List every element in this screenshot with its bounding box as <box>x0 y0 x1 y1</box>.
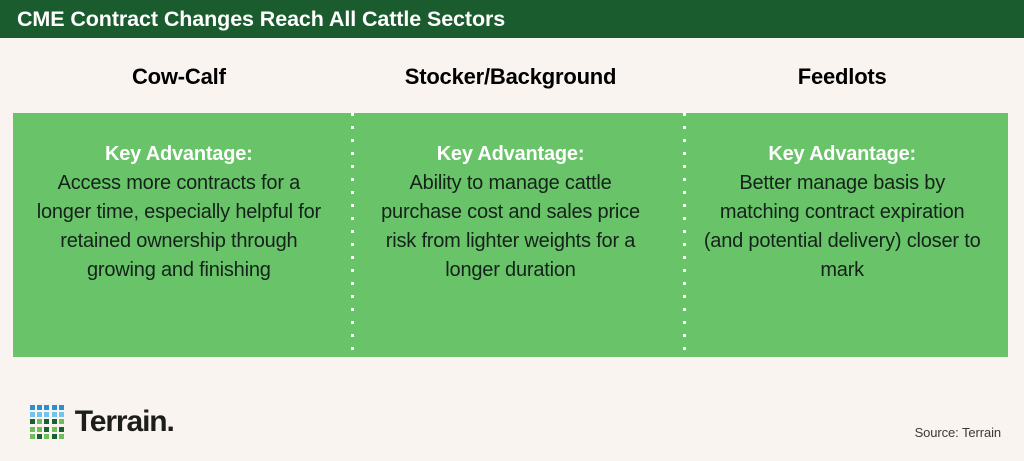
logo-dot-2-2 <box>44 419 49 424</box>
key-advantage-body-cow-calf: Access more contracts for a longer time,… <box>35 169 323 285</box>
column-divider-1 <box>351 113 354 357</box>
logo-dot-4-1 <box>37 434 42 439</box>
source-attribution: Source: Terrain <box>915 425 1001 440</box>
footer: Terrain. Source: Terrain <box>0 390 1024 461</box>
column-headers: Cow-Calf Stocker/Background Feedlots <box>13 64 1008 104</box>
logo-dot-2-3 <box>52 419 57 424</box>
title-bar: CME Contract Changes Reach All Cattle Se… <box>0 0 1024 38</box>
logo-dot-3-2 <box>44 427 49 432</box>
panel-column-cow-calf: Key Advantage: Access more contracts for… <box>13 113 345 357</box>
column-header-stocker-background: Stocker/Background <box>345 64 677 104</box>
terrain-logo: Terrain. <box>30 405 174 439</box>
key-advantage-panel: Key Advantage: Access more contracts for… <box>13 113 1008 357</box>
logo-dot-4-2 <box>44 434 49 439</box>
logo-dot-1-4 <box>59 412 64 417</box>
logo-dot-0-4 <box>59 405 64 410</box>
logo-dot-2-0 <box>30 419 35 424</box>
logo-dot-0-1 <box>37 405 42 410</box>
column-header-feedlots: Feedlots <box>676 64 1008 104</box>
terrain-logo-wordmark: Terrain. <box>75 407 174 437</box>
logo-dot-0-0 <box>30 405 35 410</box>
logo-dot-4-0 <box>30 434 35 439</box>
logo-dot-4-4 <box>59 434 64 439</box>
page-title: CME Contract Changes Reach All Cattle Se… <box>0 7 505 32</box>
key-advantage-label-feedlots: Key Advantage: <box>698 140 986 169</box>
panel-column-stocker-background: Key Advantage: Ability to manage cattle … <box>345 113 677 357</box>
logo-dot-3-1 <box>37 427 42 432</box>
logo-dot-1-3 <box>52 412 57 417</box>
key-advantage-body-stocker-background: Ability to manage cattle purchase cost a… <box>367 169 655 285</box>
logo-dot-3-3 <box>52 427 57 432</box>
key-advantage-body-feedlots: Better manage basis by matching contract… <box>698 169 986 285</box>
column-divider-2 <box>683 113 686 357</box>
terrain-logo-grid-icon <box>30 405 64 439</box>
logo-dot-1-1 <box>37 412 42 417</box>
logo-dot-2-1 <box>37 419 42 424</box>
logo-dot-3-4 <box>59 427 64 432</box>
logo-dot-4-3 <box>52 434 57 439</box>
logo-dot-3-0 <box>30 427 35 432</box>
column-header-cow-calf: Cow-Calf <box>13 64 345 104</box>
logo-dot-1-2 <box>44 412 49 417</box>
panel-column-feedlots: Key Advantage: Better manage basis by ma… <box>676 113 1008 357</box>
logo-dot-0-3 <box>52 405 57 410</box>
logo-dot-0-2 <box>44 405 49 410</box>
key-advantage-label-stocker-background: Key Advantage: <box>367 140 655 169</box>
key-advantage-label-cow-calf: Key Advantage: <box>35 140 323 169</box>
logo-dot-2-4 <box>59 419 64 424</box>
logo-dot-1-0 <box>30 412 35 417</box>
